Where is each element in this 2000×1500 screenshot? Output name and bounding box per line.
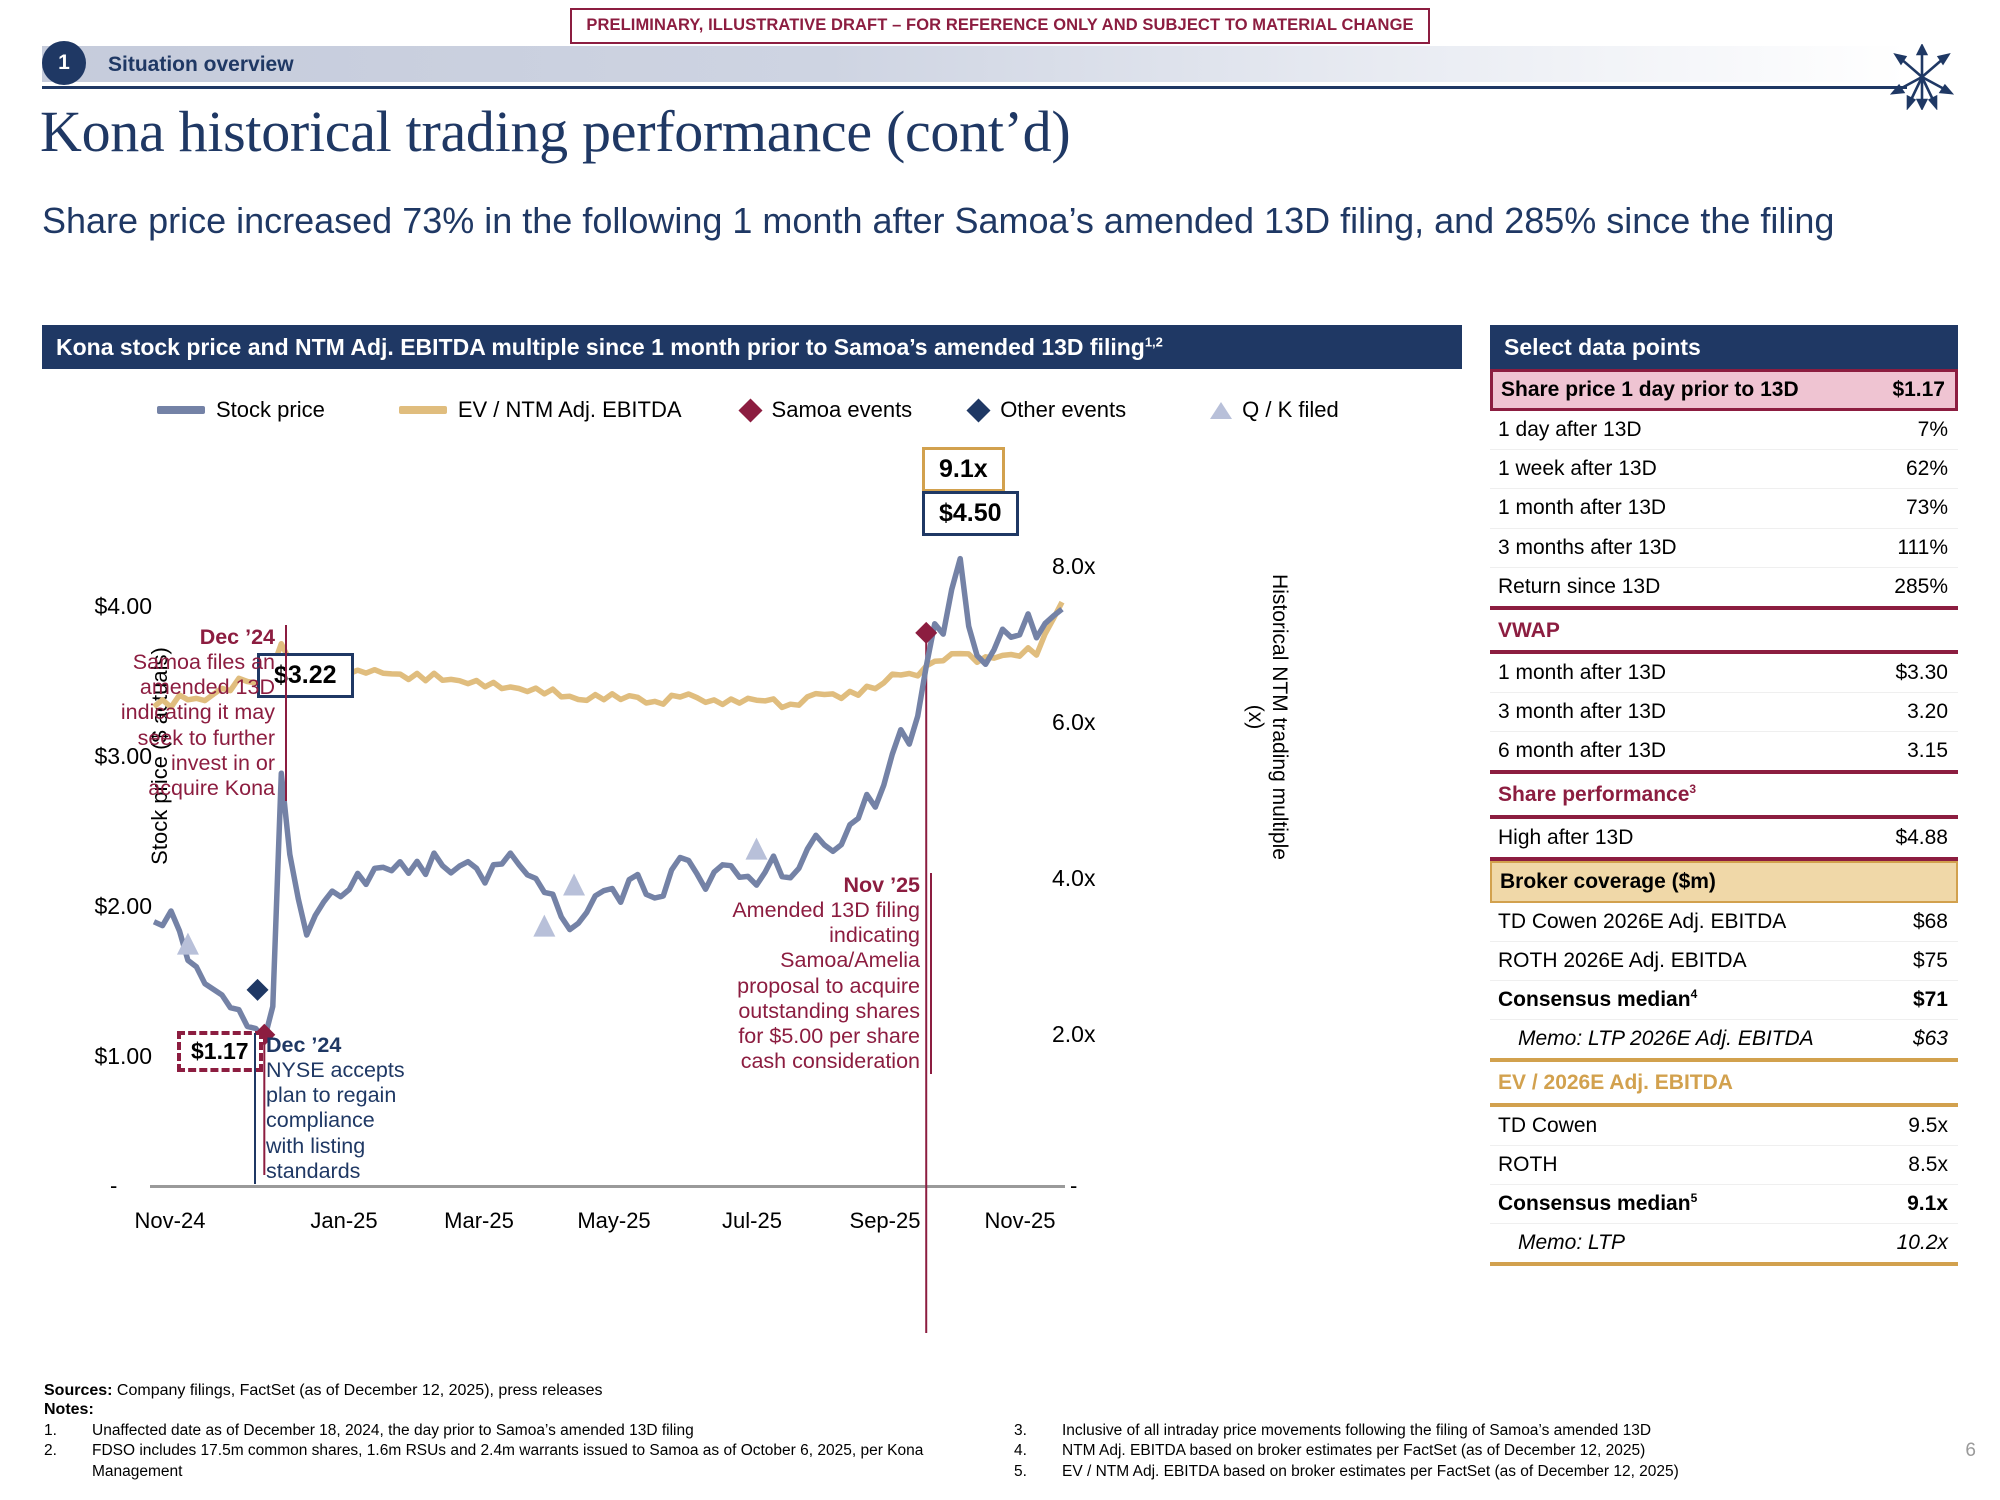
table-row: Memo: LTP10.2x [1490, 1224, 1958, 1266]
table-row: 6 month after 13D3.15 [1490, 732, 1958, 774]
page-subtitle: Share price increased 73% in the followi… [42, 198, 1892, 244]
row-value: 73% [1906, 496, 1948, 520]
row-value: $68 [1913, 910, 1948, 934]
footnote-number: 3. [1014, 1421, 1062, 1441]
footnote-number: 4. [1014, 1441, 1062, 1461]
row-value: $4.88 [1895, 826, 1948, 850]
row-label: Return since 13D [1498, 575, 1660, 599]
select-data-points-panel: Select data points Share price 1 day pri… [1490, 325, 1958, 1266]
row-value: $1.17 [1892, 378, 1945, 402]
row-value: 111% [1897, 536, 1948, 560]
annotation-heading: Dec ’24 [112, 625, 275, 650]
section-number-badge: 1 [42, 41, 86, 85]
row-label: TD Cowen [1498, 1114, 1597, 1138]
side-panel-body: Share price 1 day prior to 13D$1.171 day… [1490, 369, 1958, 1266]
line-swatch-icon [399, 406, 447, 414]
row-label: 3 month after 13D [1498, 700, 1666, 724]
footnote: 1.Unaffected date as of December 18, 202… [44, 1421, 974, 1441]
row-label: ROTH 2026E Adj. EBITDA [1498, 949, 1747, 973]
sources-line: Sources: Company filings, FactSet (as of… [44, 1382, 1964, 1400]
row-value: 10.2x [1897, 1231, 1948, 1255]
row-value: 285% [1894, 575, 1948, 599]
row-value: 3.20 [1907, 700, 1948, 724]
side-panel-header: Select data points [1490, 325, 1958, 369]
banner-divider [42, 86, 1907, 89]
qk-filed-marker [533, 915, 555, 937]
section-label: Situation overview [108, 53, 294, 77]
legend-label: Samoa events [772, 397, 913, 423]
legend-label: Other events [1000, 398, 1126, 421]
row-label: TD Cowen 2026E Adj. EBITDA [1498, 910, 1786, 934]
legend-item-samoa-events: Samoa events [742, 397, 913, 423]
table-row: 3 month after 13D3.20 [1490, 693, 1958, 732]
page-number: 6 [1965, 1440, 1976, 1462]
footnote: 3.Inclusive of all intraday price moveme… [1014, 1421, 1944, 1441]
section-title-ev-ebitda: EV / 2026E Adj. EBITDA [1490, 1062, 1958, 1106]
row-label: 6 month after 13D [1498, 739, 1666, 763]
footnote-text: NTM Adj. EBITDA based on broker estimate… [1062, 1441, 1645, 1461]
footer: Sources: Company filings, FactSet (as of… [44, 1382, 1964, 1482]
footnote-number: 1. [44, 1421, 92, 1441]
annotation-body: NYSE accepts plan to regain compliance w… [266, 1058, 405, 1183]
table-row: 3 months after 13D111% [1490, 529, 1958, 568]
table-row: Share price 1 day prior to 13D$1.17 [1490, 369, 1958, 411]
table-row: 1 month after 13D73% [1490, 489, 1958, 528]
row-label: ROTH [1498, 1153, 1558, 1177]
arrow-burst-logo [1886, 44, 1958, 110]
diamond-icon [967, 398, 991, 422]
disclaimer-text: PRELIMINARY, ILLUSTRATIVE DRAFT – FOR RE… [570, 8, 1429, 44]
table-row: TD Cowen9.5x [1490, 1107, 1958, 1146]
row-label: 1 week after 13D [1498, 457, 1657, 481]
qk-filed-marker [563, 874, 585, 896]
row-label: High after 13D [1498, 826, 1633, 850]
section-title-text: Broker coverage ($m) [1500, 870, 1716, 894]
annotation-heading: Dec ’24 [266, 1033, 414, 1058]
row-value: 3.15 [1907, 739, 1948, 763]
legend-item-other-events: Other events [970, 398, 1126, 421]
plot-area: Stock price ($ actuals) Historical NTM t… [42, 443, 1462, 1333]
page-title: Kona historical trading performance (con… [40, 98, 1070, 165]
row-label: 1 day after 13D [1498, 418, 1642, 442]
table-row: Memo: LTP 2026E Adj. EBITDA$63 [1490, 1020, 1958, 1062]
chart-panel-header-text: Kona stock price and NTM Adj. EBITDA mul… [56, 334, 1145, 360]
section-title-text: EV / 2026E Adj. EBITDA [1498, 1071, 1733, 1095]
notes-column-right: 3.Inclusive of all intraday price moveme… [1014, 1421, 1944, 1482]
footnote-text: FDSO includes 17.5m common shares, 1.6m … [92, 1441, 974, 1482]
row-value: $63 [1913, 1027, 1948, 1051]
section-title-vwap: VWAP [1490, 610, 1958, 654]
footnote-number: 2. [44, 1441, 92, 1482]
legend-item-ev-ntm: EV / NTM Adj. EBITDA [399, 397, 682, 423]
row-value: $71 [1913, 988, 1948, 1012]
chart-panel-header-footnote: 1,2 [1145, 334, 1163, 349]
footnote-text: EV / NTM Adj. EBITDA based on broker est… [1062, 1462, 1679, 1482]
table-row: 1 month after 13D$3.30 [1490, 654, 1958, 693]
legend-item-stock-price: Stock price [157, 397, 325, 423]
diamond-icon [738, 398, 762, 422]
footnote: 2.FDSO includes 17.5m common shares, 1.6… [44, 1441, 974, 1482]
chart-panel: Kona stock price and NTM Adj. EBITDA mul… [42, 325, 1462, 1335]
amended-13d-proposal-annotation: Nov ’25 Amended 13D filing indicating Sa… [732, 873, 932, 1074]
row-value: $3.30 [1895, 661, 1948, 685]
annotation-body: Samoa files an amended 13D indicating it… [121, 650, 275, 800]
notes-label: Notes: [44, 1401, 1964, 1419]
section-title-broker-coverage: Broker coverage ($m) [1490, 861, 1958, 903]
samoa-13d-annotation: Dec ’24 Samoa files an amended 13D indic… [112, 625, 287, 801]
section-title-text: VWAP [1498, 619, 1560, 643]
unaffected-callout: $1.17 [177, 1031, 263, 1072]
legend-label: EV / NTM Adj. EBITDA [458, 397, 682, 423]
row-label: Memo: LTP 2026E Adj. EBITDA [1518, 1027, 1814, 1051]
table-row: 1 week after 13D62% [1490, 450, 1958, 489]
line-swatch-icon [157, 406, 205, 414]
row-value: 9.1x [1907, 1192, 1948, 1216]
footnote-text: Inclusive of all intraday price movement… [1062, 1421, 1651, 1441]
legend-label: Q / K filed [1242, 397, 1339, 423]
table-row: TD Cowen 2026E Adj. EBITDA$68 [1490, 903, 1958, 942]
chart-legend: Stock price EV / NTM Adj. EBITDA Samoa e… [157, 381, 1457, 439]
table-row: ROTH8.5x [1490, 1146, 1958, 1185]
row-label: 3 months after 13D [1498, 536, 1677, 560]
row-value: 7% [1918, 418, 1948, 442]
qk-filed-marker [746, 838, 768, 860]
footnote: 5.EV / NTM Adj. EBITDA based on broker e… [1014, 1462, 1944, 1482]
disclaimer-bar: PRELIMINARY, ILLUSTRATIVE DRAFT – FOR RE… [0, 8, 2000, 44]
nyse-compliance-annotation: Dec ’24 NYSE accepts plan to regain comp… [254, 1033, 414, 1184]
row-value: 62% [1906, 457, 1948, 481]
table-row: Consensus median59.1x [1490, 1185, 1958, 1224]
row-label: Consensus median5 [1498, 1192, 1697, 1216]
section-title-text: Share performance3 [1498, 783, 1696, 807]
row-value: 9.5x [1908, 1114, 1948, 1138]
chart-panel-header: Kona stock price and NTM Adj. EBITDA mul… [42, 325, 1462, 369]
table-row: 1 day after 13D7% [1490, 411, 1958, 450]
notes-block: 1.Unaffected date as of December 18, 202… [44, 1421, 1964, 1482]
row-value: 8.5x [1908, 1153, 1948, 1177]
legend-item-qk-filed: Q / K filed [1210, 397, 1339, 423]
row-label: Memo: LTP [1518, 1231, 1625, 1255]
table-row: ROTH 2026E Adj. EBITDA$75 [1490, 942, 1958, 981]
other-event-marker [247, 979, 269, 1001]
row-label: 1 month after 13D [1498, 661, 1666, 685]
sources-label: Sources: [44, 1382, 112, 1399]
table-row: Return since 13D285% [1490, 568, 1958, 610]
annotation-body: Amended 13D filing indicating Samoa/Amel… [732, 898, 920, 1073]
footnote-text: Unaffected date as of December 18, 2024,… [92, 1421, 694, 1441]
row-label: Share price 1 day prior to 13D [1501, 378, 1799, 402]
notes-column-left: 1.Unaffected date as of December 18, 202… [44, 1421, 974, 1482]
footnote: 4.NTM Adj. EBITDA based on broker estima… [1014, 1441, 1944, 1461]
price-callout: $4.50 [922, 491, 1019, 536]
section-title-share-performance: Share performance3 [1490, 774, 1958, 818]
section-banner [42, 46, 1907, 82]
table-row: High after 13D$4.88 [1490, 819, 1958, 861]
row-value: $75 [1913, 949, 1948, 973]
row-label: Consensus median4 [1498, 988, 1697, 1012]
legend-label: Stock price [216, 397, 325, 423]
multiple-callout: 9.1x [922, 447, 1005, 492]
sources-text: Company filings, FactSet (as of December… [112, 1382, 602, 1399]
triangle-icon [1210, 402, 1232, 419]
table-row: Consensus median4$71 [1490, 981, 1958, 1020]
row-label: 1 month after 13D [1498, 496, 1666, 520]
annotation-heading: Nov ’25 [732, 873, 920, 898]
footnote-number: 5. [1014, 1462, 1062, 1482]
